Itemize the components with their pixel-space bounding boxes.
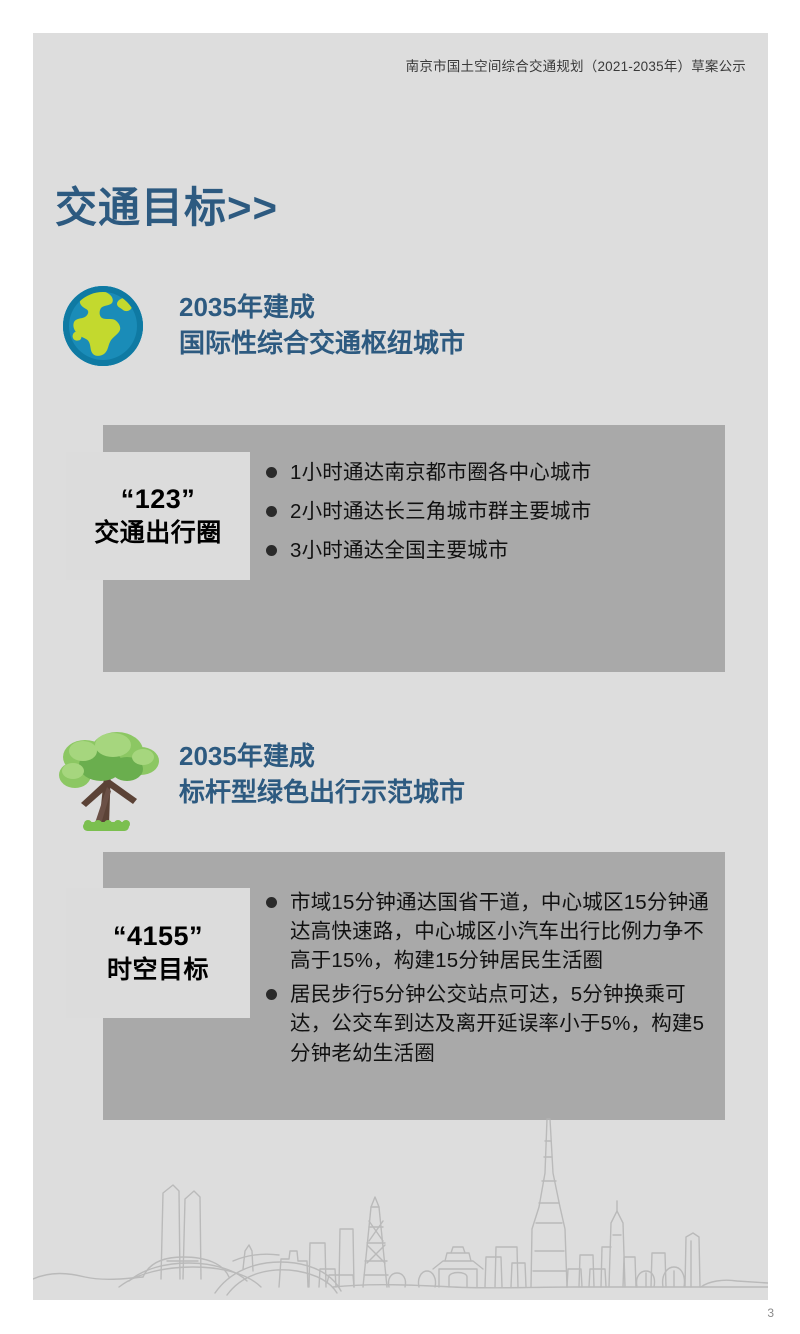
page-title: 交通目标>> (55, 174, 278, 235)
bullet-dot-icon (266, 897, 277, 908)
slide: 南京市国土空间综合交通规划（2021-2035年）草案公示 交通目标>> (33, 33, 768, 1300)
section-2-title-block: 2035年建成 标杆型绿色出行示范城市 (179, 739, 465, 811)
list-item-label: 1小时通达南京都市圈各中心城市 (290, 458, 591, 487)
section-1-label-code: “123” (121, 482, 196, 517)
list-item: 市域15分钟通达国省干道，中心城区15分钟通达高快速路，中心城区小汽车出行比例力… (266, 888, 711, 975)
bullet-dot-icon (266, 467, 277, 478)
list-item-label: 市域15分钟通达国省干道，中心城区15分钟通达高快速路，中心城区小汽车出行比例力… (290, 888, 711, 975)
list-item: 2小时通达长三角城市群主要城市 (266, 497, 711, 526)
tree-icon (55, 727, 151, 823)
city-skyline-illustration (33, 1111, 768, 1296)
section-1-title-line2: 国际性综合交通枢纽城市 (179, 326, 465, 362)
section-1-title-line1: 2035年建成 (179, 290, 465, 326)
list-item-label: 居民步行5分钟公交站点可达，5分钟换乘可达，公交车到达及离开延误率小于5%，构建… (290, 980, 711, 1067)
section-2-label-code: “4155” (113, 919, 203, 954)
section-1-label-box: “123” 交通出行圈 (66, 452, 250, 580)
bullet-dot-icon (266, 506, 277, 517)
bullet-dot-icon (266, 989, 277, 1000)
section-2-label-text: 时空目标 (107, 954, 209, 987)
section-1-label-text: 交通出行圈 (94, 517, 222, 550)
section-2-label-box: “4155” 时空目标 (66, 888, 250, 1018)
globe-icon (55, 278, 151, 374)
list-item-label: 2小时通达长三角城市群主要城市 (290, 497, 591, 526)
section-2-title-line2: 标杆型绿色出行示范城市 (179, 775, 465, 811)
section-2-heading: 2035年建成 标杆型绿色出行示范城市 (55, 727, 465, 823)
list-item: 居民步行5分钟公交站点可达，5分钟换乘可达，公交车到达及离开延误率小于5%，构建… (266, 980, 711, 1067)
page-root: 南京市国土空间综合交通规划（2021-2035年）草案公示 交通目标>> (0, 0, 800, 1334)
section-1-title-block: 2035年建成 国际性综合交通枢纽城市 (179, 290, 465, 362)
section-2-title-line1: 2035年建成 (179, 739, 465, 775)
bullet-dot-icon (266, 545, 277, 556)
list-item-label: 3小时通达全国主要城市 (290, 536, 509, 565)
document-header-title: 南京市国土空间综合交通规划（2021-2035年）草案公示 (406, 55, 746, 75)
page-number: 3 (767, 1306, 774, 1320)
section-1-bullet-list: 1小时通达南京都市圈各中心城市 2小时通达长三角城市群主要城市 3小时通达全国主… (266, 458, 711, 575)
list-item: 1小时通达南京都市圈各中心城市 (266, 458, 711, 487)
section-1-heading: 2035年建成 国际性综合交通枢纽城市 (55, 278, 465, 374)
section-2-bullet-list: 市域15分钟通达国省干道，中心城区15分钟通达高快速路，中心城区小汽车出行比例力… (266, 888, 711, 1073)
list-item: 3小时通达全国主要城市 (266, 536, 711, 565)
